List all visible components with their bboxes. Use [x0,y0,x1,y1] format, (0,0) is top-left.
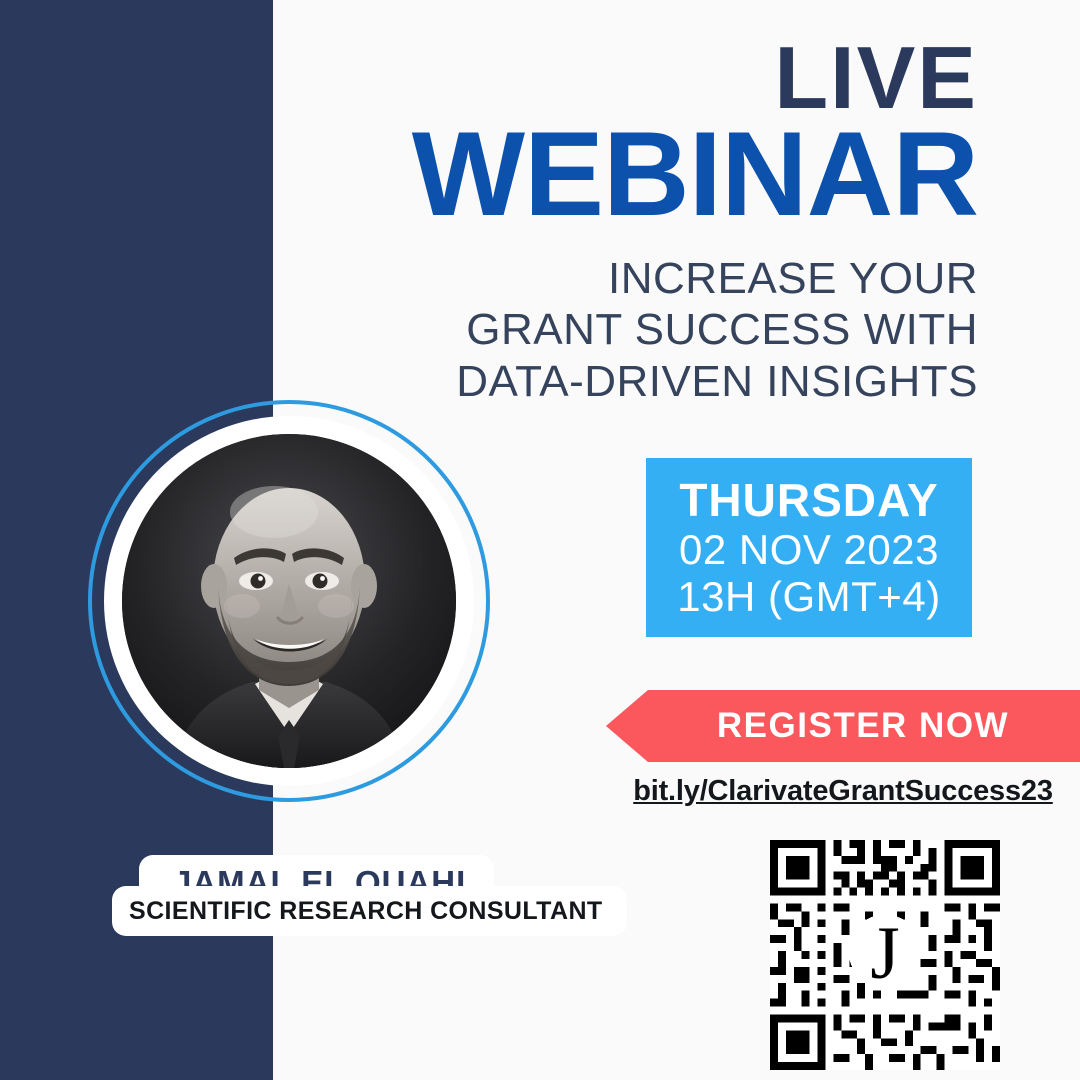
date-day: THURSDAY [679,475,938,526]
avatar [122,434,456,768]
register-now-button[interactable]: REGISTER NOW [606,690,1080,762]
speaker-role-pill: SCIENTIFIC RESEARCH CONSULTANT [112,886,627,936]
qr-code-icon: J [770,840,1000,1070]
svg-text:J: J [870,912,899,995]
subtitle-line-1: INCREASE YOUR [78,253,978,304]
date-box: THURSDAY 02 NOV 2023 13H (GMT+4) [646,458,972,637]
date-date: 02 NOV 2023 [679,526,939,573]
register-now-label: REGISTER NOW [717,706,1009,746]
qr-code[interactable]: J [770,840,1000,1070]
registration-url-link[interactable]: bit.ly/ClarivateGrantSuccess23 [606,775,1080,808]
webinar-poster: LIVE WEBINAR INCREASE YOUR GRANT SUCCESS… [0,0,1080,1080]
subtitle-block: INCREASE YOUR GRANT SUCCESS WITH DATA-DR… [78,253,978,407]
subtitle-line-3: DATA-DRIVEN INSIGHTS [78,356,978,407]
headline-webinar: WEBINAR [78,114,978,234]
speaker-portrait-photo-icon [122,434,456,768]
date-time: 13H (GMT+4) [677,573,940,620]
speaker-role: SCIENTIFIC RESEARCH CONSULTANT [129,897,603,926]
subtitle-line-2: GRANT SUCCESS WITH [78,304,978,355]
headline-block: LIVE WEBINAR [78,36,978,234]
